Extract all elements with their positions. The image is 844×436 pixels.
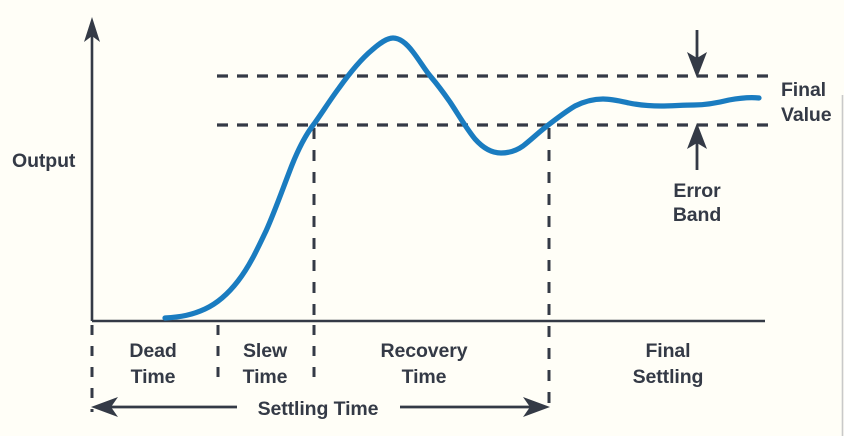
segment-label-recovery-time-line2: Time <box>402 366 447 388</box>
segment-label-recovery-time-line1: Recovery <box>380 340 467 362</box>
settling-time-diagram: Output Final Value Error Band Dead Time … <box>0 0 844 436</box>
segment-label-dead-time-line2: Time <box>131 366 176 388</box>
segment-label-slew-time-line2: Time <box>243 366 288 388</box>
error-band-label-line1: Error <box>673 180 721 202</box>
segment-label-dead-time-line1: Dead <box>129 340 176 362</box>
segment-label-slew-time-line1: Slew <box>243 340 288 362</box>
final-value-label-line2: Value <box>781 104 832 126</box>
error-band-label-line2: Band <box>673 204 721 226</box>
segment-label-final-settling-line2: Settling <box>633 366 704 388</box>
final-value-label-line1: Final <box>781 79 826 101</box>
settling-time-span-label: Settling Time <box>258 398 379 420</box>
y-axis-label: Output <box>12 150 76 172</box>
segment-label-final-settling-line1: Final <box>645 340 690 362</box>
diagram-canvas: Output Final Value Error Band Dead Time … <box>0 0 844 436</box>
